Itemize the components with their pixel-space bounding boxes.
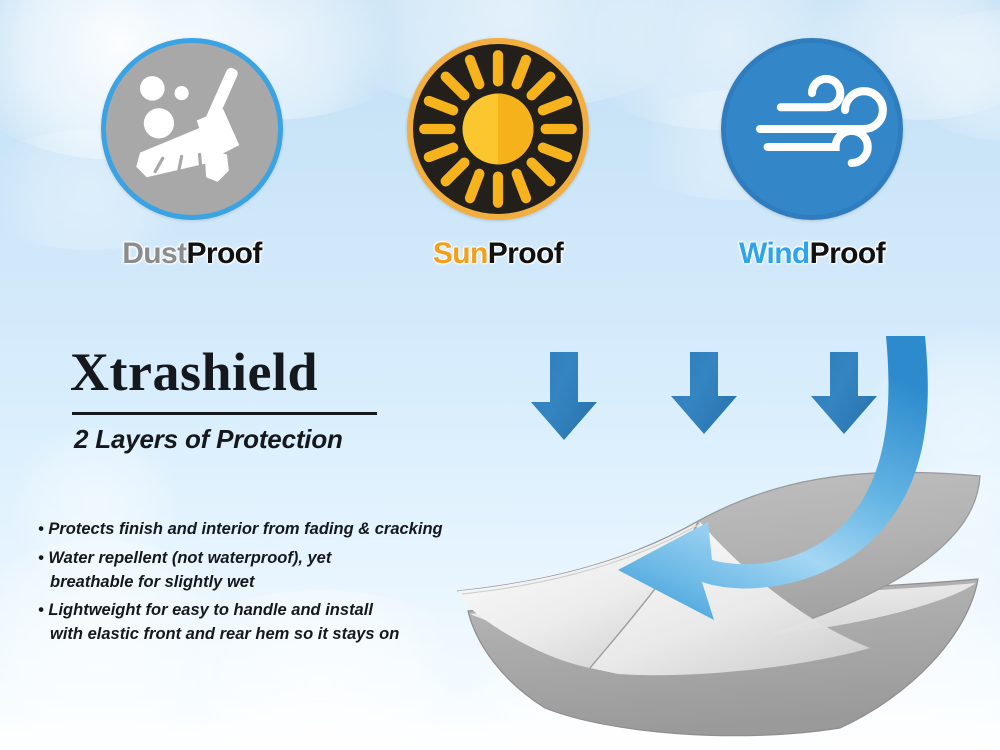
brand-block: Xtrashield 2 Layers of Protection (70, 345, 470, 455)
feature-dust-proof: DustProof (72, 38, 312, 271)
feature-icon-row: DustProof (0, 38, 1000, 278)
list-item: Water repellent (not waterproof), yetbre… (38, 547, 508, 595)
feature-bullet-list: Protects finish and interior from fading… (38, 518, 508, 652)
feature-label-dust-secondary: Proof (186, 237, 261, 270)
feature-label-dust-primary: Dust (122, 237, 186, 270)
bullet-line-1: Lightweight for easy to handle and insta… (48, 601, 373, 619)
broom-dust-icon (101, 38, 283, 220)
feature-wind-proof: WindProof (692, 38, 932, 271)
feature-label-dust: DustProof (72, 237, 312, 271)
bullet-line-1: Protects finish and interior from fading… (48, 520, 442, 538)
list-item: Lightweight for easy to handle and insta… (38, 599, 508, 647)
feature-label-sun-secondary: Proof (488, 237, 563, 270)
brand-name: Xtrashield (70, 345, 470, 399)
wind-icon (721, 38, 903, 220)
feature-label-sun: SunProof (378, 237, 618, 271)
bullet-line-2: with elastic front and rear hem so it st… (38, 623, 508, 647)
down-arrow (531, 352, 597, 440)
down-arrow-group (531, 352, 877, 440)
feature-label-wind: WindProof (692, 237, 932, 271)
two-layer-fabric-airflow-diagram (440, 336, 1000, 750)
sun-icon (407, 38, 589, 220)
feature-sun-proof: SunProof (378, 38, 618, 271)
brand-divider (72, 412, 377, 415)
feature-label-sun-primary: Sun (433, 237, 488, 270)
down-arrow (811, 352, 877, 434)
bullet-line-2: breathable for slightly wet (38, 571, 508, 595)
list-item: Protects finish and interior from fading… (38, 518, 508, 542)
brand-tagline: 2 Layers of Protection (70, 424, 470, 455)
feature-label-wind-primary: Wind (739, 237, 810, 270)
down-arrow (671, 352, 737, 434)
feature-label-wind-secondary: Proof (810, 237, 885, 270)
bullet-line-1: Water repellent (not waterproof), yet (48, 549, 331, 567)
